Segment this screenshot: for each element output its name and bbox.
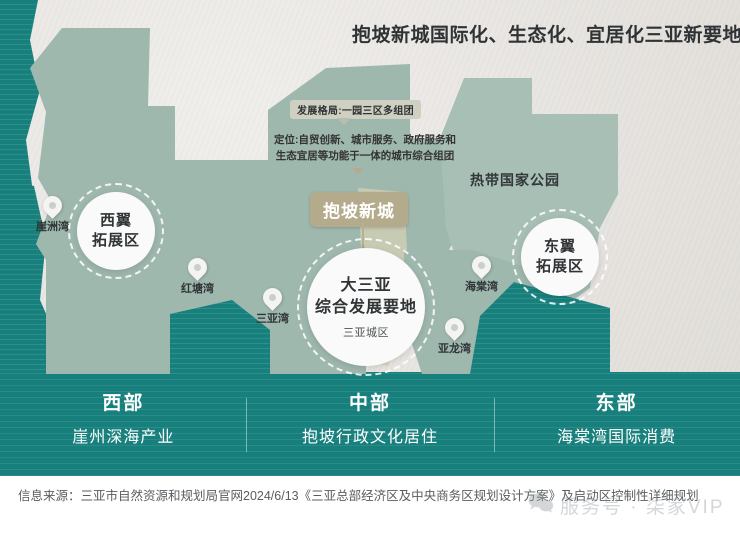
east-circle-line-2: 拓展区: [536, 257, 584, 277]
west-circle-line-2: 拓展区: [92, 231, 140, 251]
callout-arrow-down-icon: [352, 168, 364, 174]
region-column-center: 中部 抱坡行政文化居住: [247, 388, 494, 464]
map-pin-icon: [259, 284, 286, 311]
infographic-root: 抱坡新城国际化、生态化、宜居化三亚新要地 发展格局:一园三区多组团 定位:自贸创…: [0, 0, 740, 536]
region-column-east: 东部 海棠湾国际消费: [493, 388, 740, 464]
callout-arrow-icon: [337, 118, 351, 125]
map-pin-label: 亚龙湾: [438, 340, 471, 356]
center-circle-sublabel: 三亚城区: [343, 324, 389, 340]
map-pin-label: 崖洲湾: [36, 218, 69, 234]
positioning-description: 定位:自贸创新、城市服务、政府服务和 生态宜居等功能于一体的城市综合组团: [255, 132, 475, 164]
center-circle-label: 大三亚 综合发展要地 三亚城区: [307, 248, 425, 366]
west-circle-line-1: 西翼: [100, 211, 132, 231]
development-pattern-tag: 发展格局:一园三区多组团: [290, 100, 421, 119]
map-pin-haitang-bay[interactable]: 海棠湾: [472, 256, 491, 275]
watermark: 服务号 · 柒家VIP: [528, 492, 725, 519]
region-column-west: 西部 崖州深海产业: [0, 388, 247, 464]
column-divider-right: [494, 398, 495, 452]
wechat-icon: [528, 493, 560, 519]
watermark-text: 服务号 · 柒家VIP: [560, 492, 725, 519]
map-pin-label: 红塘湾: [181, 280, 214, 296]
center-circle-line-2: 综合发展要地: [315, 297, 417, 319]
east-circle-line-1: 东翼: [544, 237, 576, 257]
column-divider-left: [246, 398, 247, 452]
center-circle-line-1: 大三亚: [340, 275, 391, 297]
east-wing-zone-label: 东翼 拓展区: [521, 218, 599, 296]
region-summary-columns: 西部 崖州深海产业 中部 抱坡行政文化居住 东部 海棠湾国际消费: [0, 388, 740, 464]
map-pin-yazhou-bay[interactable]: 崖洲湾: [43, 196, 62, 215]
positioning-line-1: 定位:自贸创新、城市服务、政府服务和: [255, 132, 475, 148]
region-desc: 崖州深海产业: [0, 423, 247, 447]
map-pin-icon: [468, 252, 495, 279]
map-pin-sanya-bay[interactable]: 三亚湾: [263, 288, 282, 307]
map-pin-label: 三亚湾: [256, 310, 289, 326]
west-wing-zone-label: 西翼 拓展区: [77, 192, 155, 270]
region-title: 西部: [0, 388, 247, 415]
map-pin-icon: [39, 192, 66, 219]
tropical-national-park-label: 热带国家公园: [470, 170, 560, 190]
map-pin-yalong-bay[interactable]: 亚龙湾: [445, 318, 464, 337]
region-desc: 海棠湾国际消费: [493, 423, 740, 447]
region-title: 东部: [493, 388, 740, 415]
region-title: 中部: [247, 388, 494, 415]
baopo-new-town-badge: 抱坡新城: [310, 192, 408, 227]
page-title: 抱坡新城国际化、生态化、宜居化三亚新要地: [352, 20, 732, 47]
map-pin-icon: [184, 254, 211, 281]
positioning-line-2: 生态宜居等功能于一体的城市综合组团: [255, 148, 475, 164]
map-pin-hongtang-bay[interactable]: 红塘湾: [188, 258, 207, 277]
map-pin-icon: [441, 314, 468, 341]
region-desc: 抱坡行政文化居住: [247, 423, 494, 447]
map-pin-label: 海棠湾: [465, 278, 498, 294]
